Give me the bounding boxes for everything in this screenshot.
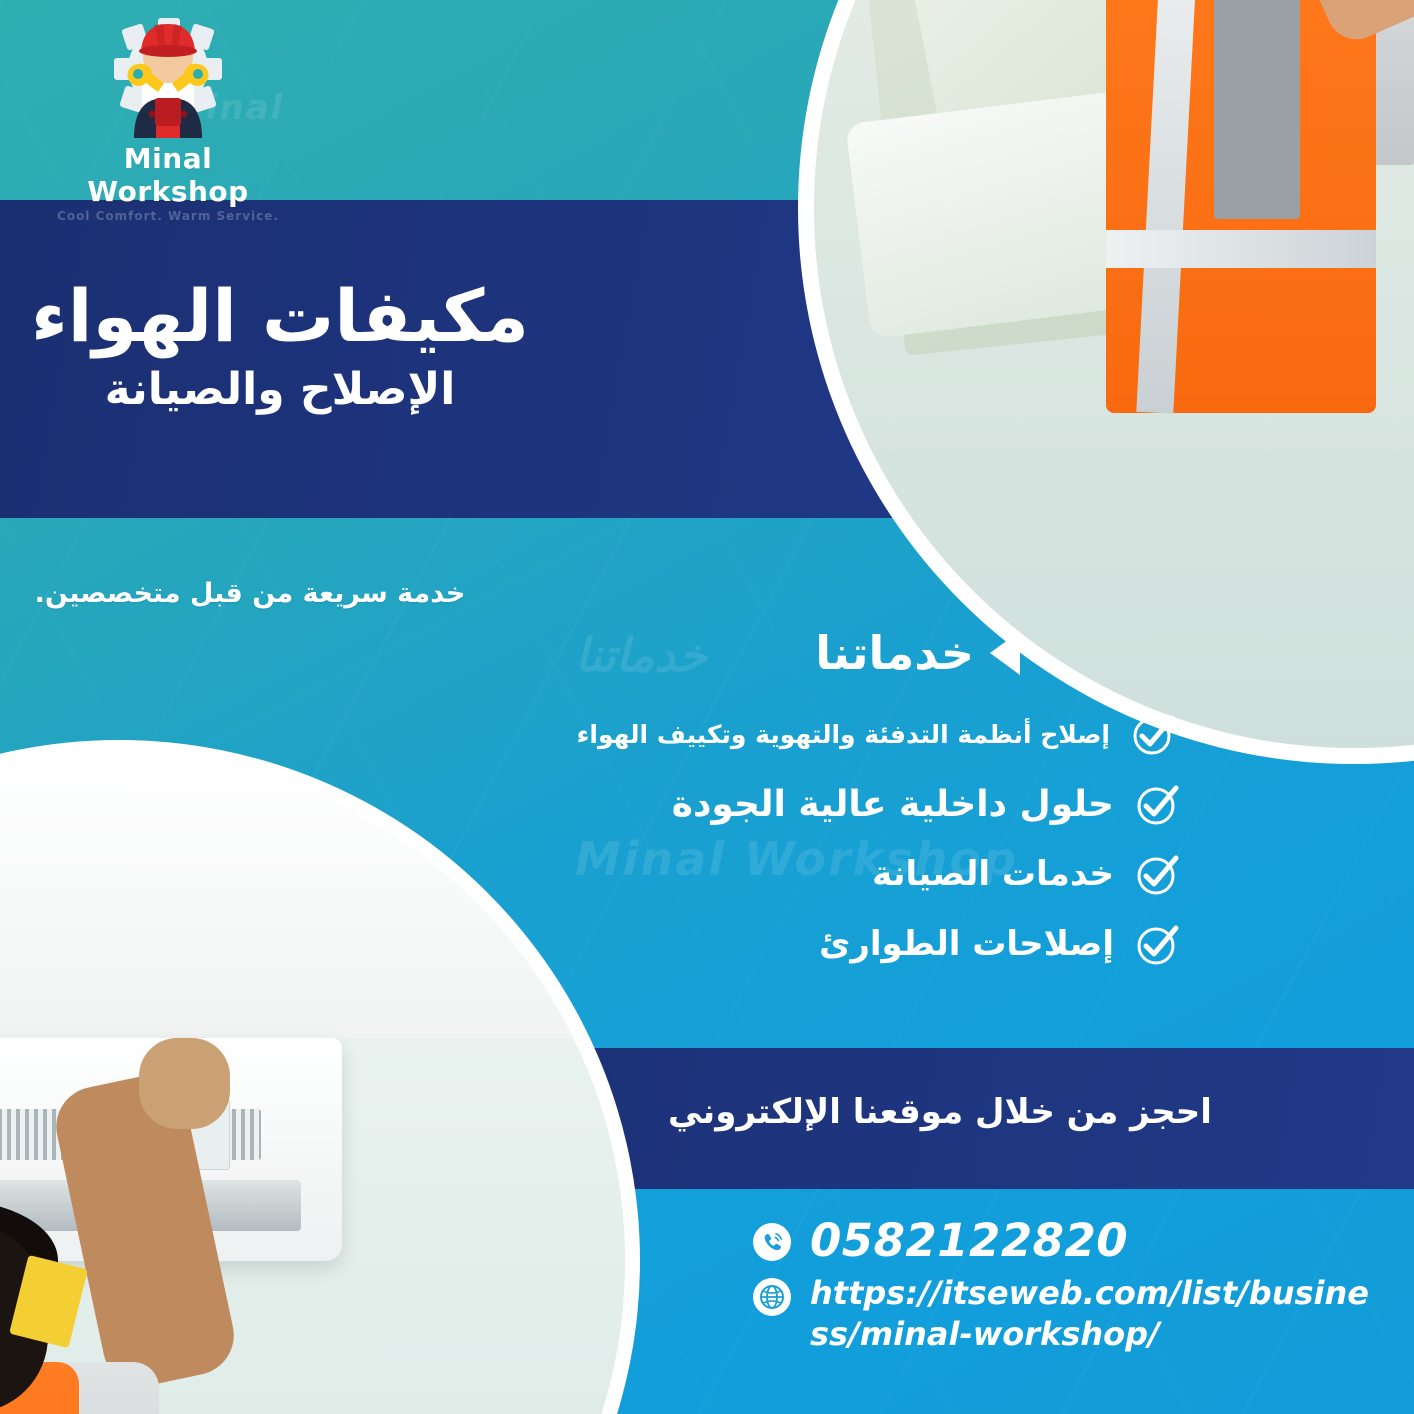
hero-subtitle: الإصلاح والصيانة	[0, 366, 560, 414]
contact-website-row[interactable]: https://itseweb.com/list/business/minal-…	[752, 1273, 1392, 1355]
contact-phone-row[interactable]: 0582122820	[752, 1218, 1392, 1263]
globe-icon	[752, 1277, 792, 1317]
service-item[interactable]: خدمات الصيانة	[560, 852, 1180, 898]
photo-bottom-left	[0, 755, 625, 1414]
service-label: حلول داخلية عالية الجودة	[672, 784, 1114, 825]
service-label: إصلاح أنظمة التدفئة والتهوية وتكييف الهو…	[577, 721, 1110, 750]
service-item[interactable]: إصلاح أنظمة التدفئة والتهوية وتكييف الهو…	[560, 712, 1176, 758]
service-label: إصلاحات الطوارئ	[819, 925, 1114, 964]
vest-stripe-horizontal	[1106, 230, 1376, 269]
circle-check-icon	[1134, 922, 1180, 968]
contact-block: 0582122820 https://itseweb.com/list/busi…	[752, 1218, 1392, 1365]
photo-bottom-left-frame	[0, 740, 640, 1414]
circle-check-icon	[1130, 712, 1176, 758]
services-heading-row: خدماتنا	[560, 630, 1180, 676]
ceiling	[0, 755, 625, 1059]
services-list: إصلاح أنظمة التدفئة والتهوية وتكييف الهو…	[560, 712, 1180, 968]
hero-tagline: خدمة سريعة من قبل متخصصين.	[0, 578, 500, 609]
scene-technician-ac-bottom	[0, 755, 625, 1414]
services-heading: خدماتنا	[815, 630, 974, 676]
brand-logo[interactable]: Minal Workshop Cool Comfort. Warm Servic…	[38, 12, 298, 223]
technician-hand-right	[139, 1038, 230, 1129]
circle-check-icon	[1134, 852, 1180, 898]
hero-title: مكيفات الهواء	[0, 278, 560, 356]
brand-tagline: Cool Comfort. Warm Service.	[38, 209, 298, 223]
website-url: https://itseweb.com/list/business/minal-…	[810, 1273, 1370, 1355]
worker-gear-wrench-logo-icon	[108, 12, 228, 138]
hero-headline: مكيفات الهواء الإصلاح والصيانة	[0, 278, 560, 414]
service-label: خدمات الصيانة	[872, 855, 1114, 894]
services-section: خدماتنا إصلاح أنظمة التدفئة والتهوية وتك…	[560, 630, 1180, 992]
vest-opening	[1214, 0, 1300, 219]
service-item[interactable]: إصلاحات الطوارئ	[560, 922, 1180, 968]
phone-icon	[752, 1222, 792, 1262]
circle-check-icon	[1134, 782, 1180, 828]
booking-cta[interactable]: احجز من خلال موقعنا الإلكتروني	[560, 1092, 1320, 1132]
triangle-right-icon	[990, 631, 1020, 675]
poster-canvas: خدماتنا Minal Workshop itseweb Minal	[0, 0, 1414, 1414]
phone-number: 0582122820	[810, 1218, 1128, 1263]
brand-name: Minal Workshop	[38, 142, 298, 208]
service-item[interactable]: حلول داخلية عالية الجودة	[560, 782, 1180, 828]
